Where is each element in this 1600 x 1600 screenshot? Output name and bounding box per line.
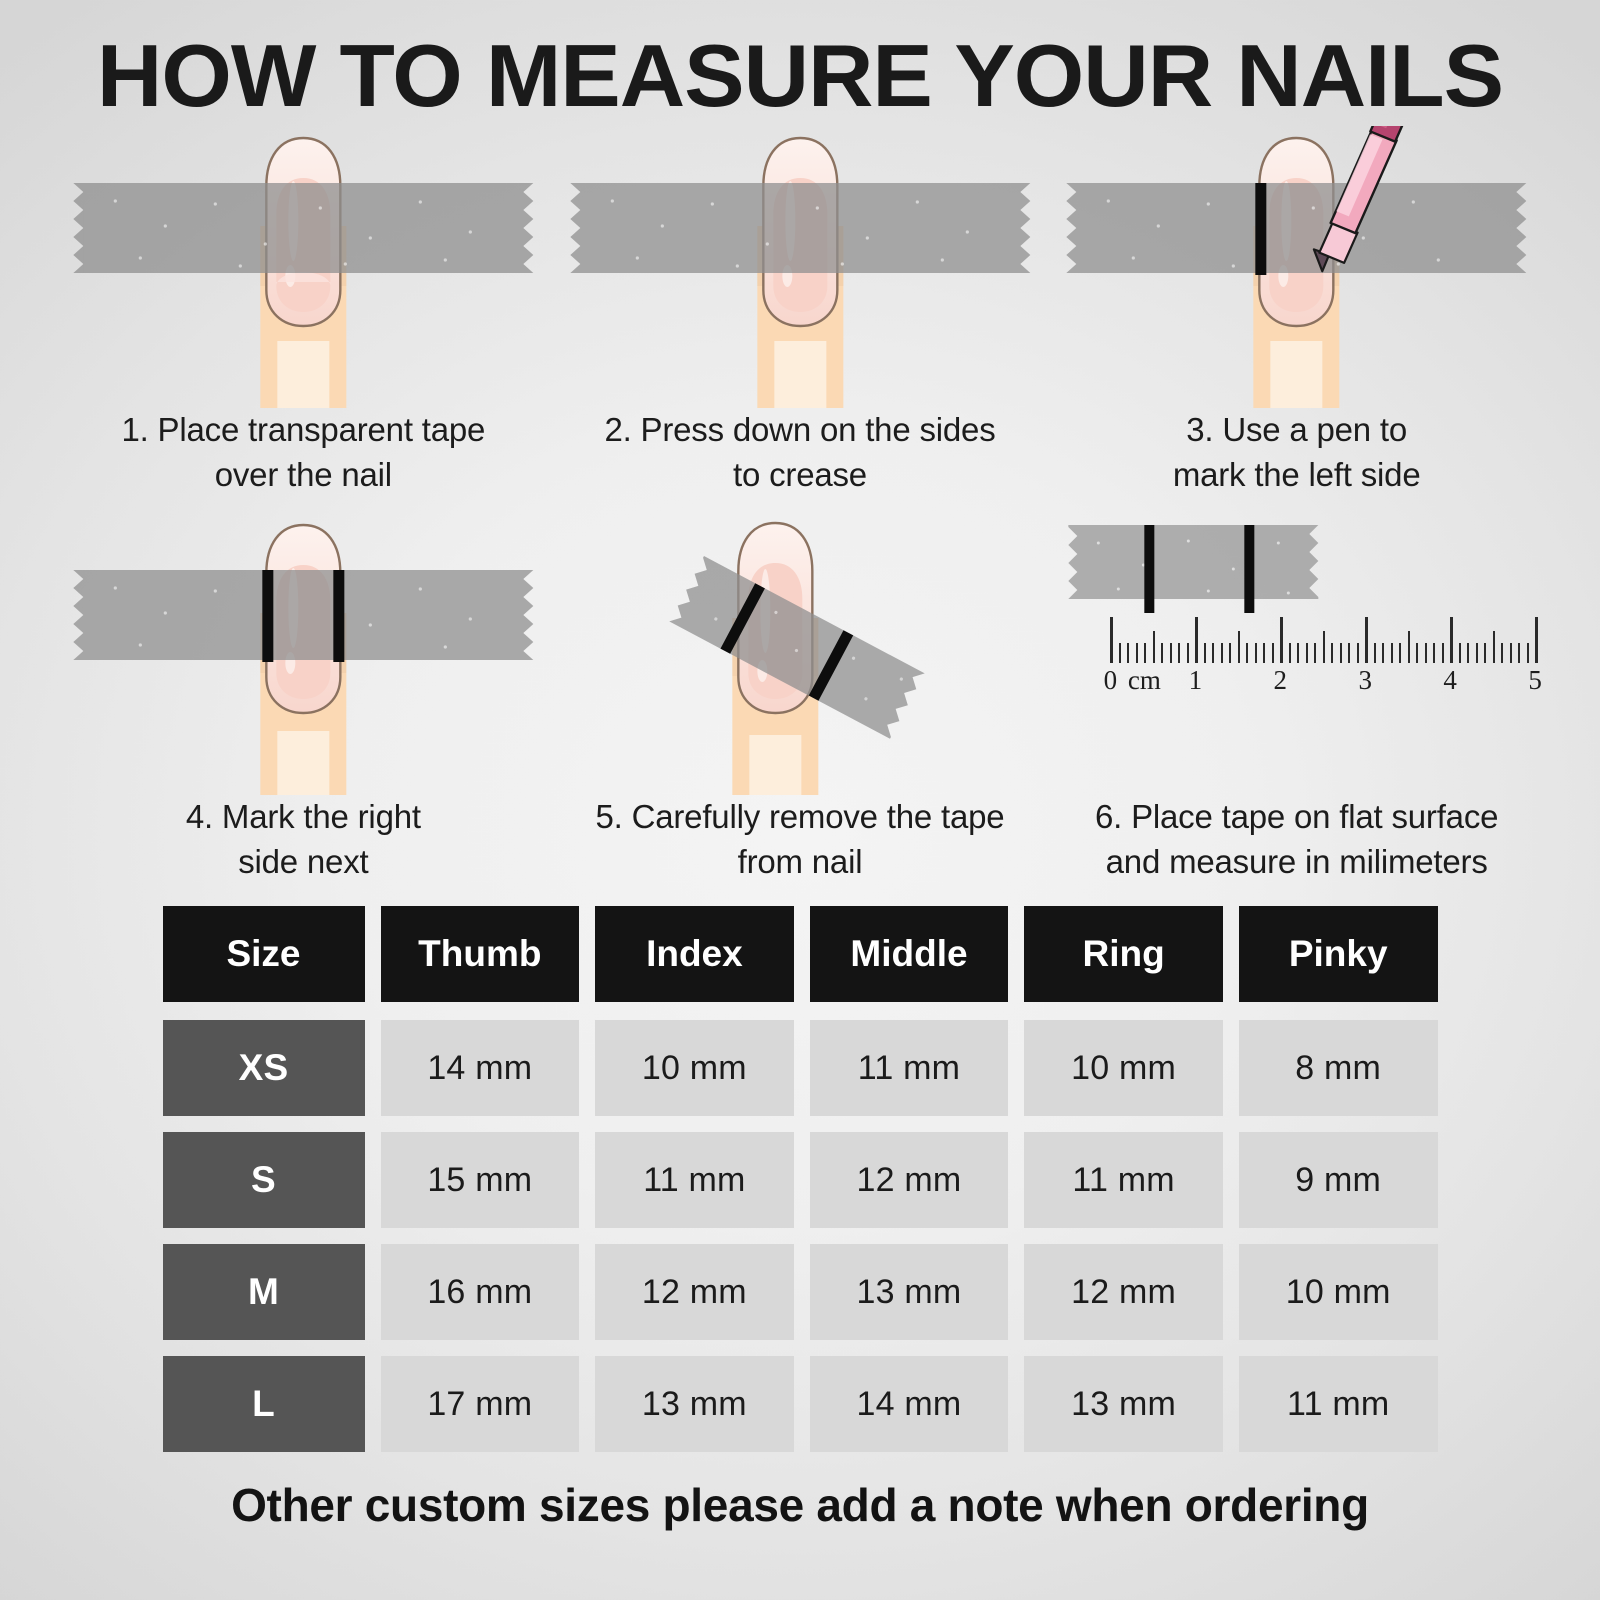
cell-xs-middle: 11 mm xyxy=(810,1020,1009,1116)
step-1: 1. Place transparent tape over the nail xyxy=(55,126,552,497)
cell-l-ring: 13 mm xyxy=(1024,1356,1223,1452)
cell-l-index: 13 mm xyxy=(595,1356,794,1452)
step-2-line-2: to crease xyxy=(566,453,1035,498)
ruler-tick xyxy=(1357,643,1359,663)
ruler-tick xyxy=(1314,643,1316,663)
cell-s-pinky: 9 mm xyxy=(1239,1132,1438,1228)
page-title: HOW TO MEASURE YOUR NAILS xyxy=(0,0,1600,120)
column-header-index: Index xyxy=(595,906,794,1002)
ruler-label: 1 xyxy=(1189,665,1203,696)
finger-with-tape-svg xyxy=(55,126,552,408)
row-label-l: L xyxy=(163,1356,365,1452)
step-6-illustration: 012345cm xyxy=(1048,503,1545,795)
ruler-tick xyxy=(1331,643,1333,663)
step-6: 012345cm 6. Place tape on flat surface a… xyxy=(1048,503,1545,884)
cell-s-index: 11 mm xyxy=(595,1132,794,1228)
ruler-tick xyxy=(1399,643,1401,663)
ruler-label: 3 xyxy=(1358,665,1372,696)
ruler-tick xyxy=(1340,643,1342,663)
ruler-tick xyxy=(1246,643,1248,663)
cell-l-thumb: 17 mm xyxy=(381,1356,580,1452)
table-row: L 17 mm 13 mm 14 mm 13 mm 11 mm xyxy=(163,1356,1438,1452)
ruler-tick xyxy=(1416,643,1418,663)
ruler-label: 2 xyxy=(1274,665,1288,696)
step-3-line-1: 3. Use a pen to xyxy=(1062,408,1531,453)
step-3: 3. Use a pen to mark the left side xyxy=(1048,126,1545,497)
tape-strip xyxy=(1069,525,1319,599)
step-1-illustration xyxy=(55,126,552,408)
ruler-tick xyxy=(1212,643,1214,663)
step-6-caption: 6. Place tape on flat surface and measur… xyxy=(1048,795,1545,884)
finger-tape-pen-svg xyxy=(1048,126,1545,408)
ruler-tick xyxy=(1450,617,1453,663)
column-header-thumb: Thumb xyxy=(381,906,580,1002)
step-2-illustration xyxy=(552,126,1049,408)
ruler-tick xyxy=(1467,643,1469,663)
ruler-tick xyxy=(1221,643,1223,663)
cell-xs-thumb: 14 mm xyxy=(381,1020,580,1116)
tape-strip xyxy=(570,183,1030,273)
ruler-tick xyxy=(1433,643,1435,663)
ruler-tick xyxy=(1493,631,1495,663)
step-6-line-2: and measure in milimeters xyxy=(1062,840,1531,885)
step-2-line-1: 2. Press down on the sides xyxy=(566,408,1035,453)
ruler-tick xyxy=(1365,617,1368,663)
ruler-tick xyxy=(1442,643,1444,663)
step-4-line-1: 4. Mark the right xyxy=(69,795,538,840)
steps-row-1: 1. Place transparent tape over the nail xyxy=(55,126,1545,497)
ruler-tick xyxy=(1535,617,1538,663)
cell-s-ring: 11 mm xyxy=(1024,1132,1223,1228)
step-4: 4. Mark the right side next xyxy=(55,503,552,884)
ruler-tick xyxy=(1238,631,1240,663)
step-5: 5. Carefully remove the tape from nail xyxy=(552,503,1049,884)
finger-tape-peeled-svg xyxy=(552,503,1049,795)
tape-mark-right xyxy=(1245,525,1255,613)
cell-s-thumb: 15 mm xyxy=(381,1132,580,1228)
ruler-tick xyxy=(1272,643,1274,663)
tape-strip xyxy=(73,183,533,273)
table-row: M 16 mm 12 mm 13 mm 12 mm 10 mm xyxy=(163,1244,1438,1340)
step-4-illustration xyxy=(55,503,552,795)
cell-xs-ring: 10 mm xyxy=(1024,1020,1223,1116)
ruler-tick xyxy=(1178,643,1180,663)
ruler-tick xyxy=(1323,631,1325,663)
ruler-tick xyxy=(1425,643,1427,663)
ruler-tick xyxy=(1161,643,1163,663)
ruler-tick xyxy=(1518,643,1520,663)
tape-strip xyxy=(73,570,533,660)
finger-two-marks-svg xyxy=(55,503,552,795)
ruler-tick xyxy=(1127,643,1129,663)
step-1-line-2: over the nail xyxy=(69,453,538,498)
step-1-line-1: 1. Place transparent tape xyxy=(69,408,538,453)
ruler-tick xyxy=(1306,643,1308,663)
ruler-tick xyxy=(1195,617,1198,663)
cell-xs-index: 10 mm xyxy=(595,1020,794,1116)
ruler-tick xyxy=(1374,643,1376,663)
step-5-line-2: from nail xyxy=(566,840,1035,885)
ruler-tick xyxy=(1144,643,1146,663)
steps-row-2: 4. Mark the right side next xyxy=(55,503,1545,884)
column-header-middle: Middle xyxy=(810,906,1009,1002)
column-header-size: Size xyxy=(163,906,365,1002)
step-1-caption: 1. Place transparent tape over the nail xyxy=(55,408,552,497)
ruler-label: 5 xyxy=(1528,665,1542,696)
ruler-tick xyxy=(1297,643,1299,663)
table-row: S 15 mm 11 mm 12 mm 11 mm 9 mm xyxy=(163,1132,1438,1228)
ruler-tick xyxy=(1229,643,1231,663)
ruler-label: 4 xyxy=(1443,665,1457,696)
step-3-illustration xyxy=(1048,126,1545,408)
cell-m-middle: 13 mm xyxy=(810,1244,1009,1340)
cell-xs-pinky: 8 mm xyxy=(1239,1020,1438,1116)
ruler-tick xyxy=(1348,643,1350,663)
ruler-unit-label: cm xyxy=(1128,665,1161,696)
ruler-tick xyxy=(1459,643,1461,663)
ruler-tick xyxy=(1187,643,1189,663)
table-row: XS 14 mm 10 mm 11 mm 10 mm 8 mm xyxy=(163,1020,1438,1116)
ruler-tick xyxy=(1484,643,1486,663)
row-label-s: S xyxy=(163,1132,365,1228)
step-6-line-1: 6. Place tape on flat surface xyxy=(1062,795,1531,840)
step-3-line-2: mark the left side xyxy=(1062,453,1531,498)
left-mark xyxy=(262,570,273,662)
cell-m-ring: 12 mm xyxy=(1024,1244,1223,1340)
cell-s-middle: 12 mm xyxy=(810,1132,1009,1228)
ruler-tick xyxy=(1382,643,1384,663)
right-mark xyxy=(333,570,344,662)
ruler-tick xyxy=(1289,643,1291,663)
ruler-tick xyxy=(1110,617,1113,663)
ruler-tick xyxy=(1170,643,1172,663)
tape-strip xyxy=(1067,183,1527,273)
ruler-tick xyxy=(1280,617,1283,663)
ruler-tick xyxy=(1510,643,1512,663)
column-header-ring: Ring xyxy=(1024,906,1223,1002)
step-2: 2. Press down on the sides to crease xyxy=(552,126,1049,497)
ruler-tick xyxy=(1408,631,1410,663)
ruler-tick xyxy=(1136,643,1138,663)
row-label-xs: XS xyxy=(163,1020,365,1116)
ruler-tick xyxy=(1153,631,1155,663)
footer-note: Other custom sizes please add a note whe… xyxy=(0,1478,1600,1532)
cell-m-pinky: 10 mm xyxy=(1239,1244,1438,1340)
cell-m-thumb: 16 mm xyxy=(381,1244,580,1340)
ruler-label: 0 xyxy=(1104,665,1118,696)
row-label-m: M xyxy=(163,1244,365,1340)
tape-mark-left xyxy=(1145,525,1155,613)
ruler-scale: 012345cm xyxy=(1110,615,1535,691)
step-4-line-2: side next xyxy=(69,840,538,885)
table-header-row: Size Thumb Index Middle Ring Pinky xyxy=(163,906,1438,1002)
column-header-pinky: Pinky xyxy=(1239,906,1438,1002)
size-table: Size Thumb Index Middle Ring Pinky XS 14… xyxy=(163,906,1438,1452)
ruler-tick xyxy=(1119,643,1121,663)
ruler-tick xyxy=(1204,643,1206,663)
step-4-caption: 4. Mark the right side next xyxy=(55,795,552,884)
step-5-illustration xyxy=(552,503,1049,795)
cell-l-middle: 14 mm xyxy=(810,1356,1009,1452)
cell-m-index: 12 mm xyxy=(595,1244,794,1340)
ruler-tick xyxy=(1501,643,1503,663)
cell-l-pinky: 11 mm xyxy=(1239,1356,1438,1452)
finger-tape-creased-svg xyxy=(552,126,1049,408)
ruler-tick xyxy=(1391,643,1393,663)
step-3-caption: 3. Use a pen to mark the left side xyxy=(1048,408,1545,497)
step-2-caption: 2. Press down on the sides to crease xyxy=(552,408,1049,497)
ruler-tick xyxy=(1476,643,1478,663)
left-mark xyxy=(1256,183,1267,275)
ruler-tick xyxy=(1263,643,1265,663)
ruler-tick xyxy=(1527,643,1529,663)
step-5-caption: 5. Carefully remove the tape from nail xyxy=(552,795,1049,884)
step-5-line-1: 5. Carefully remove the tape xyxy=(566,795,1035,840)
ruler-tick xyxy=(1255,643,1257,663)
